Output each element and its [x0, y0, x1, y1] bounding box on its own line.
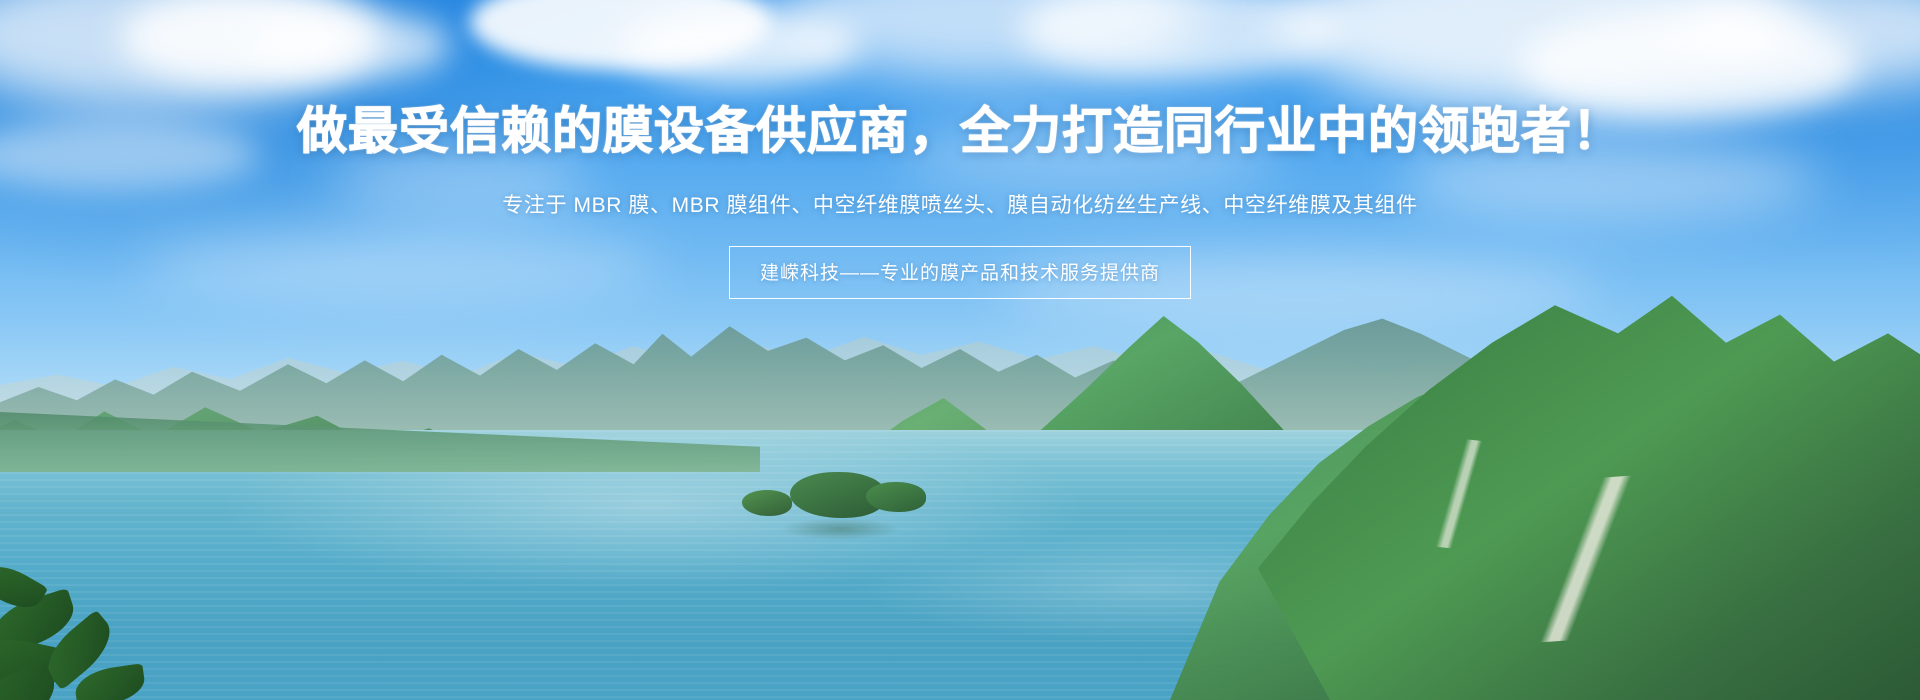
- island-reflection: [780, 518, 900, 540]
- island-small: [742, 490, 792, 516]
- foreground-foliage: [0, 430, 280, 700]
- banner-tagline-box[interactable]: 建嵘科技——专业的膜产品和技术服务提供商: [729, 246, 1191, 299]
- island-right: [866, 482, 926, 512]
- hero-banner: 做最受信赖的膜设备供应商，全力打造同行业中的领跑者！ 专注于 MBR 膜、MBR…: [0, 0, 1920, 700]
